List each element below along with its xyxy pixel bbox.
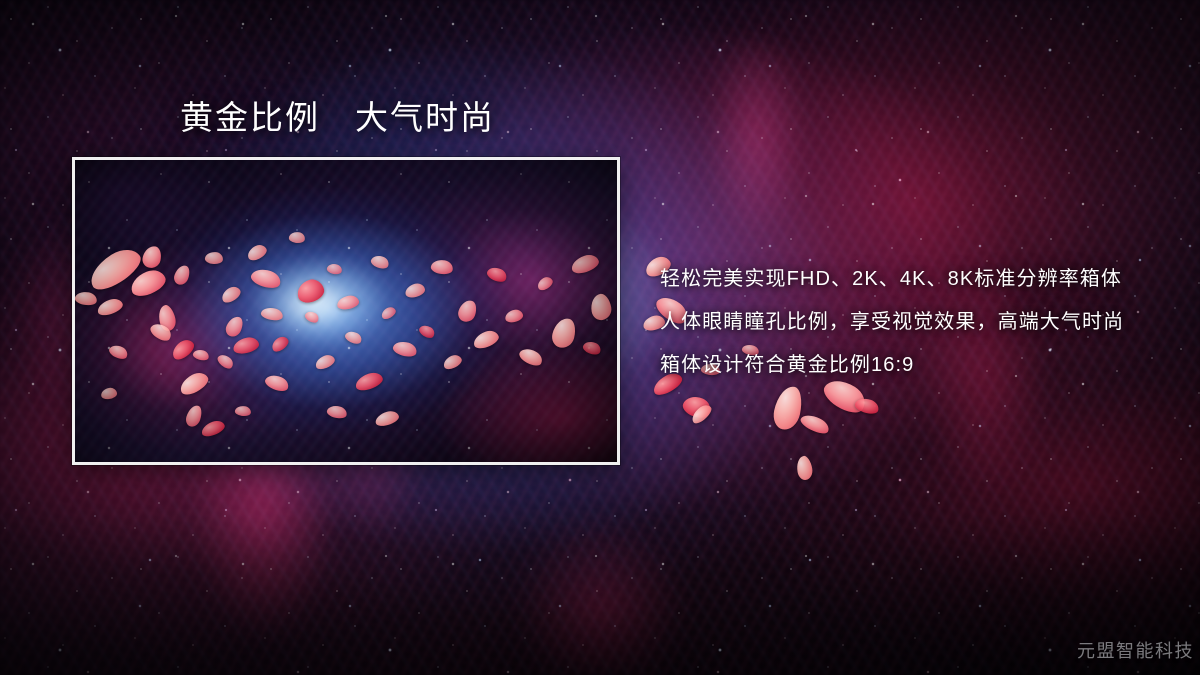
body-line-2: 人体眼睛瞳孔比例，享受视觉效果，高端大气时尚 bbox=[660, 301, 1170, 344]
petal bbox=[200, 418, 227, 438]
photo-nebula-wisps bbox=[75, 160, 617, 462]
petal bbox=[204, 251, 223, 265]
petal bbox=[569, 252, 601, 276]
petal bbox=[245, 242, 269, 262]
petal bbox=[223, 314, 245, 339]
petal bbox=[294, 277, 326, 306]
petal bbox=[798, 411, 831, 437]
body-line-3: 箱体设计符合黄金比例16:9 bbox=[660, 344, 1170, 387]
petal bbox=[249, 266, 283, 291]
petal bbox=[177, 369, 211, 398]
petal bbox=[380, 305, 398, 321]
petal bbox=[84, 242, 146, 295]
petal bbox=[234, 405, 251, 417]
petal bbox=[169, 336, 197, 362]
petal bbox=[95, 296, 124, 317]
petal bbox=[326, 404, 348, 420]
petal bbox=[581, 339, 602, 357]
petal bbox=[374, 409, 401, 428]
petal bbox=[219, 284, 243, 305]
petal bbox=[771, 384, 806, 432]
petal bbox=[313, 353, 336, 372]
petal bbox=[100, 387, 117, 400]
petal bbox=[107, 342, 129, 361]
petal bbox=[430, 258, 454, 276]
petal bbox=[456, 298, 479, 324]
petal bbox=[369, 253, 390, 270]
petal bbox=[288, 231, 305, 244]
petal bbox=[326, 262, 343, 275]
photo-nebula-base bbox=[75, 160, 617, 462]
petal bbox=[441, 353, 463, 372]
photo-starfield bbox=[75, 160, 617, 462]
petal bbox=[75, 290, 98, 307]
framed-photo-image bbox=[75, 160, 617, 462]
photo-vignette bbox=[75, 160, 617, 462]
petal bbox=[404, 282, 427, 299]
petal bbox=[795, 455, 814, 481]
petal bbox=[353, 370, 384, 393]
petal bbox=[148, 320, 174, 344]
petal bbox=[184, 403, 204, 428]
petal bbox=[303, 309, 320, 325]
petal bbox=[156, 303, 178, 332]
petal bbox=[485, 264, 509, 284]
petal bbox=[504, 308, 524, 323]
petal bbox=[853, 396, 880, 417]
body-text-block: 轻松完美实现FHD、2K、4K、8K标准分辨率箱体 人体眼睛瞳孔比例，享受视觉效… bbox=[660, 258, 1170, 387]
petal bbox=[417, 323, 436, 341]
petal bbox=[263, 372, 290, 394]
petal bbox=[172, 263, 192, 287]
petal bbox=[343, 329, 363, 346]
page-title: 黄金比例 大气时尚 bbox=[180, 99, 495, 137]
petal bbox=[215, 352, 235, 371]
petal bbox=[260, 306, 284, 322]
petal bbox=[232, 335, 261, 355]
petal bbox=[550, 316, 579, 350]
framed-photo bbox=[72, 157, 620, 465]
petal bbox=[689, 402, 714, 426]
presentation-slide: 黄金比例 大气时尚 轻松完美实现FHD、2K、4K、8K标准分辨率箱体 人体眼睛… bbox=[0, 0, 1200, 675]
petal bbox=[192, 348, 210, 362]
body-line-1: 轻松完美实现FHD、2K、4K、8K标准分辨率箱体 bbox=[660, 258, 1170, 301]
petal bbox=[141, 244, 163, 269]
photo-core-glow bbox=[75, 160, 617, 462]
petal bbox=[471, 328, 501, 351]
petal bbox=[269, 334, 291, 354]
petal bbox=[589, 292, 613, 321]
watermark: 元盟智能科技 bbox=[1077, 637, 1194, 663]
petal bbox=[392, 339, 419, 359]
petal bbox=[535, 275, 554, 293]
petal bbox=[680, 392, 713, 421]
petal bbox=[127, 266, 169, 300]
petal bbox=[517, 345, 545, 369]
petal bbox=[336, 294, 360, 311]
